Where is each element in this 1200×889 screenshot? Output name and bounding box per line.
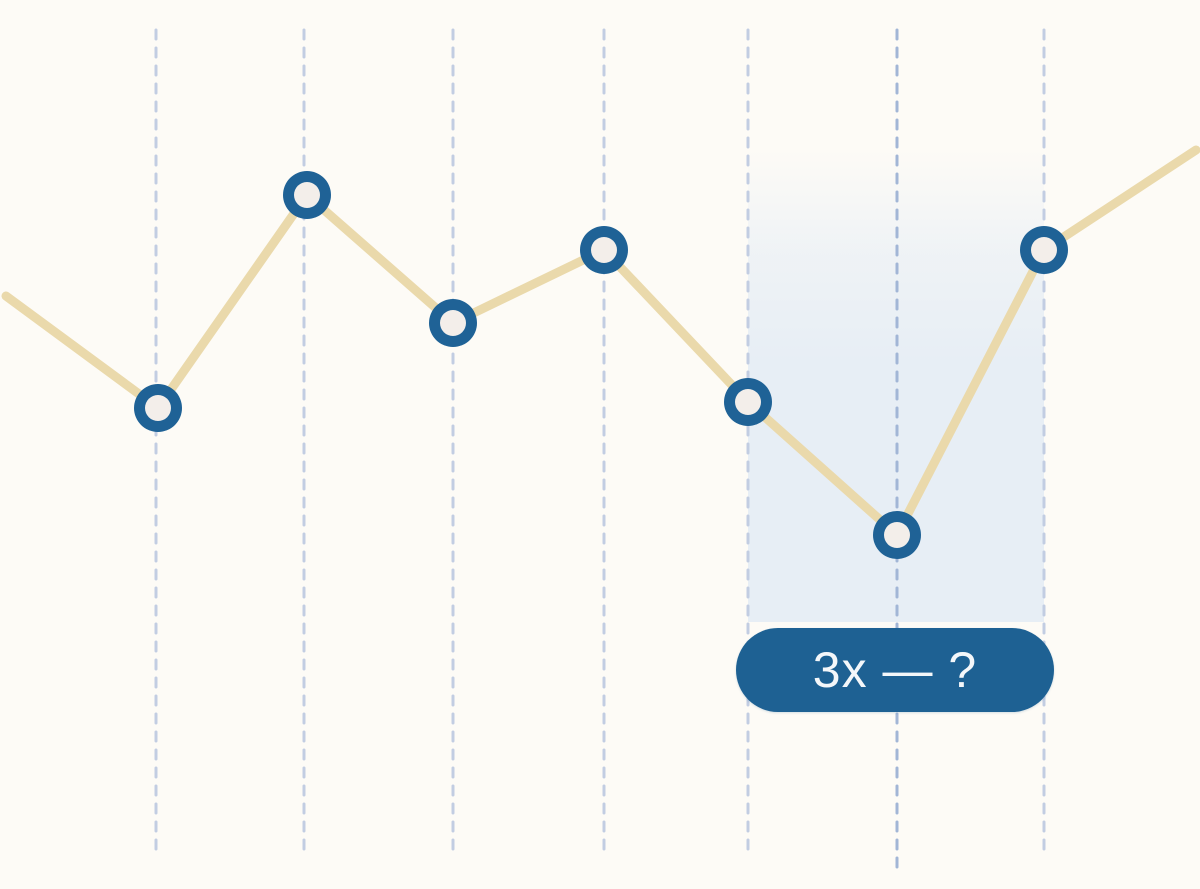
data-point-7[interactable]	[1020, 226, 1068, 274]
data-point-5[interactable]	[724, 378, 772, 426]
data-point-2[interactable]	[283, 171, 331, 219]
data-point-6[interactable]	[873, 511, 921, 559]
forecast-callout-label: 3x — ?	[813, 645, 977, 695]
line-chart	[0, 0, 1200, 889]
data-point-4[interactable]	[580, 226, 628, 274]
data-point-1[interactable]	[134, 384, 182, 432]
chart-canvas: 3x — ?	[0, 0, 1200, 889]
forecast-callout-pill[interactable]: 3x — ?	[736, 628, 1054, 712]
data-point-3[interactable]	[429, 299, 477, 347]
